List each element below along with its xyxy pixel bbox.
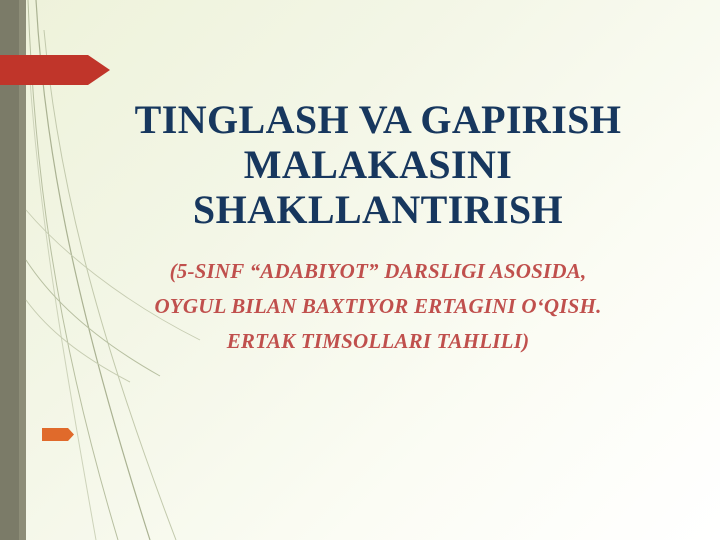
orange-dash-icon [42,428,74,441]
title-line-3: SHAKLLANTIRISH [78,188,678,233]
subtitle-line-2: OYGUL BILAN BAXTIYOR ERTAGINI O‘QISH. [78,289,678,324]
title-line-1: TINGLASH VA GAPIRISH [78,98,678,143]
slide-content: TINGLASH VA GAPIRISH MALAKASINI SHAKLLAN… [78,98,678,358]
title-line-2: MALAKASINI [78,143,678,188]
subtitle-line-1: (5-SINF “ADABIYOT” DARSLIGI ASOSIDA, [78,254,678,289]
slide-title: TINGLASH VA GAPIRISH MALAKASINI SHAKLLAN… [78,98,678,232]
slide: TINGLASH VA GAPIRISH MALAKASINI SHAKLLAN… [0,0,720,540]
red-arrow-icon [0,55,110,85]
slide-subtitle: (5-SINF “ADABIYOT” DARSLIGI ASOSIDA, OYG… [78,254,678,358]
subtitle-line-3: ERTAK TIMSOLLARI TAHLILI) [78,324,678,359]
